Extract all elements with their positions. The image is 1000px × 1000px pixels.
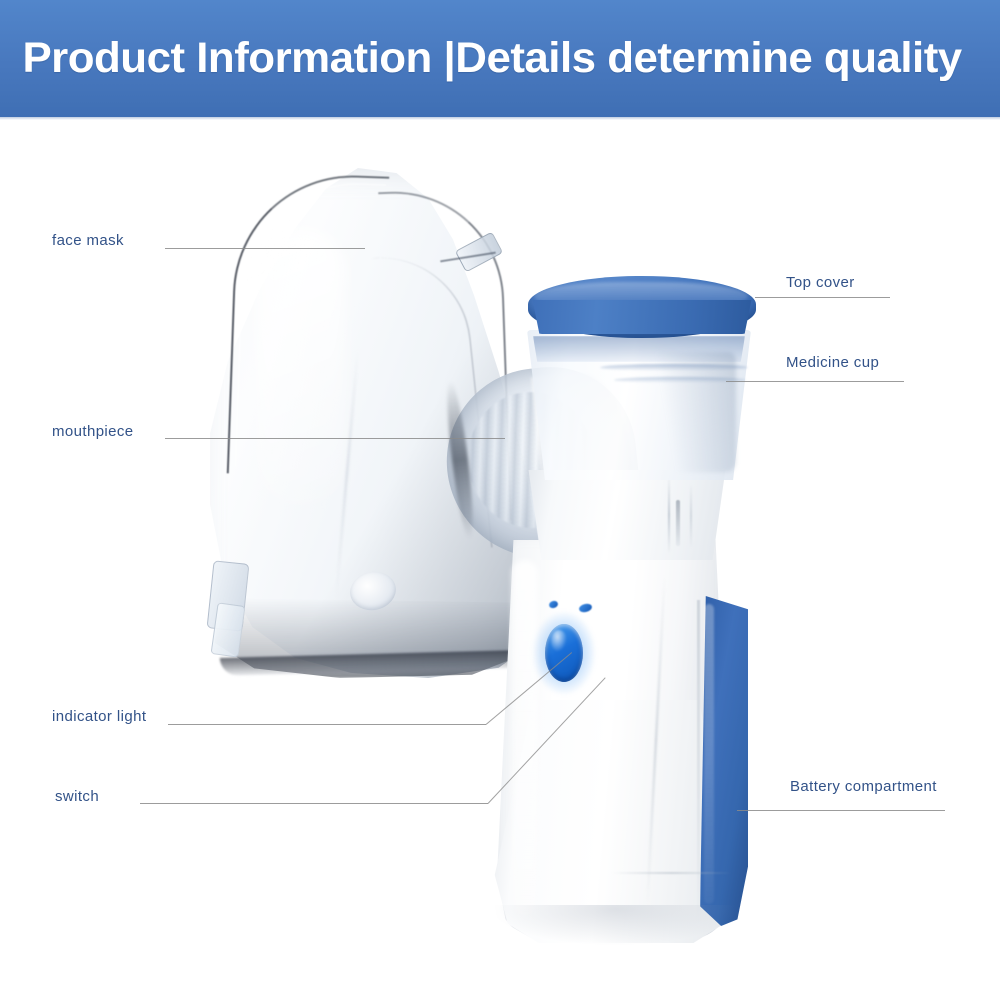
medicine-cup-shadow	[640, 352, 736, 472]
callout-label-medicine-cup: Medicine cup	[786, 354, 879, 371]
leader-line-switch	[140, 803, 488, 804]
device-base-shading	[495, 905, 735, 945]
device-body-contour-lower	[612, 872, 732, 874]
callout-label-indicator-light: indicator light	[52, 708, 146, 725]
power-button-highlight	[551, 630, 567, 652]
battery-compartment-highlight	[704, 604, 714, 904]
callout-label-mouthpiece: mouthpiece	[52, 423, 134, 440]
callout-label-face-mask: face mask	[52, 232, 124, 249]
device-neck-line-secondary	[690, 484, 692, 548]
device-body-highlight	[512, 560, 538, 920]
device-neck	[520, 470, 734, 560]
leader-line-indicator-light	[168, 724, 486, 725]
device-body-seam	[697, 600, 700, 926]
device-neck-line	[668, 476, 670, 554]
leader-line-face-mask	[165, 248, 365, 249]
leader-line-top-cover	[755, 297, 890, 298]
top-cover-face	[528, 300, 756, 334]
product-illustration	[0, 0, 1000, 1000]
leader-line-battery-compartment	[737, 810, 945, 811]
device-neck-slot	[676, 500, 680, 546]
leader-line-mouthpiece	[165, 438, 505, 439]
callout-label-switch: switch	[55, 788, 99, 805]
callout-label-top-cover: Top cover	[786, 274, 855, 291]
callout-label-battery-compartment: Battery compartment	[790, 778, 937, 795]
leader-line-medicine-cup	[726, 381, 904, 382]
product-infographic-page: Product Information |Details determine q…	[0, 0, 1000, 1000]
